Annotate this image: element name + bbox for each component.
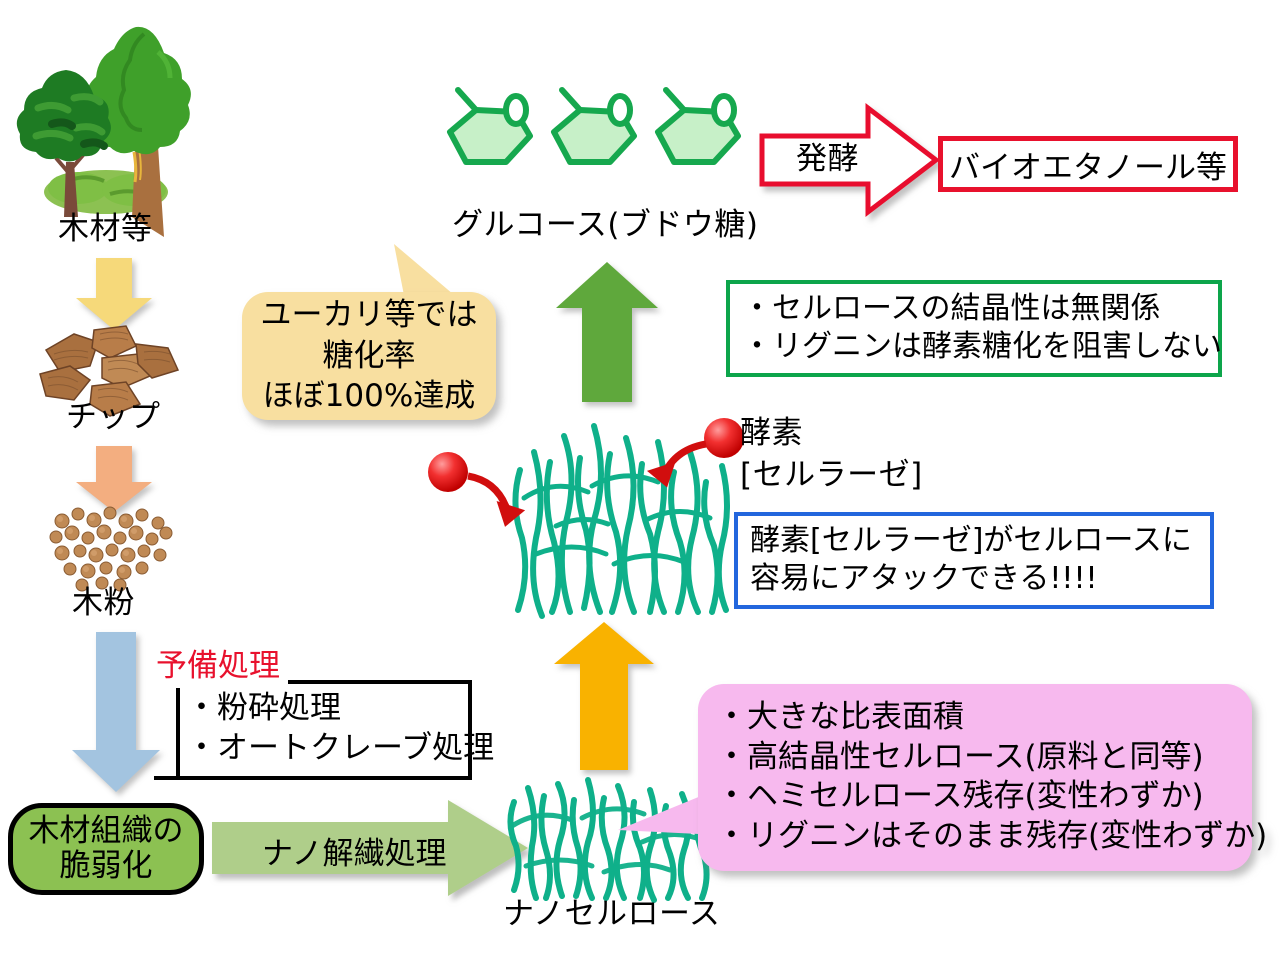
fermentation-arrow-label: 発酵 (796, 142, 859, 178)
blue-note-line-1: 容易にアタックできる!!!! (750, 560, 1198, 598)
pink-line-0: ・大きな比表面積 (716, 698, 1234, 738)
enzyme-label-line-2: [セルラーゼ] (740, 458, 923, 494)
cellulose-facts-note: ・セルロースの結晶性は無関係 ・リグニンは酵素糖化を阻害しない (726, 280, 1222, 377)
step-label-powder: 木粉 (72, 586, 135, 622)
green-note-line-0: ・セルロースの結晶性は無関係 (742, 290, 1206, 328)
arrow-up-green (552, 262, 662, 402)
outcome-line-1: 木材組織の (29, 814, 184, 849)
pink-line-3: ・リグニンはそのまま残存(変性わずか) (716, 817, 1234, 857)
green-note-line-1: ・リグニンは酵素糖化を阻害しない (742, 328, 1206, 366)
enzyme-attack-note: 酵素[セルラーゼ]がセルロースに 容易にアタックできる!!!! (734, 512, 1214, 609)
pretreatment-item-0: ・粉砕処理 (186, 690, 341, 727)
yellow-line-0: ユーカリ等では (261, 295, 478, 336)
outcome-line-2: 脆弱化 (29, 849, 184, 884)
nano-process-arrow-label: ナノ解繊処理 (262, 828, 446, 873)
saccharification-callout: ユーカリ等では 糖化率 ほぼ100%達成 (242, 292, 496, 420)
nanocellulose-properties-callout: ・大きな比表面積 ・高結晶性セルロース(原料と同等) ・ヘミセルロース残存(変性… (698, 684, 1252, 871)
diagram-canvas: 木材等 チップ (0, 0, 1280, 960)
step-label-chip: チップ (66, 400, 161, 436)
pink-line-2: ・ヘミセルロース残存(変性わずか) (716, 777, 1234, 817)
arrow-up-orange (552, 622, 656, 770)
nanocellulose-label: ナノセルロース (503, 897, 720, 933)
yellow-line-1: 糖化率 (323, 336, 416, 377)
arrow-down-peach (74, 446, 154, 512)
bioethanol-box: バイオエタノール等 (938, 136, 1238, 192)
glucose-molecules (444, 88, 748, 203)
step-label-wood: 木材等 (58, 212, 153, 248)
glucose-label: グルコース(ブドウ糖) (452, 208, 759, 244)
wood-powder-illustration (48, 505, 178, 595)
enzyme-label-line-1: 酵素 (740, 416, 803, 452)
bioethanol-label: バイオエタノール等 (949, 142, 1227, 187)
pretreatment-item-1: ・オートクレーブ処理 (186, 730, 494, 767)
enzyme-dot-left (424, 448, 554, 538)
tree-illustration (8, 12, 218, 217)
yellow-line-2: ほぼ100%達成 (263, 376, 476, 417)
pretreatment-title: 予備処理 (152, 640, 284, 685)
blue-note-line-0: 酵素[セルラーゼ]がセルロースに (750, 522, 1198, 560)
pink-line-1: ・高結晶性セルロース(原料と同等) (716, 738, 1234, 778)
outcome-capsule: 木材組織の 脆弱化 (8, 803, 204, 895)
arrow-down-blue (70, 632, 164, 792)
